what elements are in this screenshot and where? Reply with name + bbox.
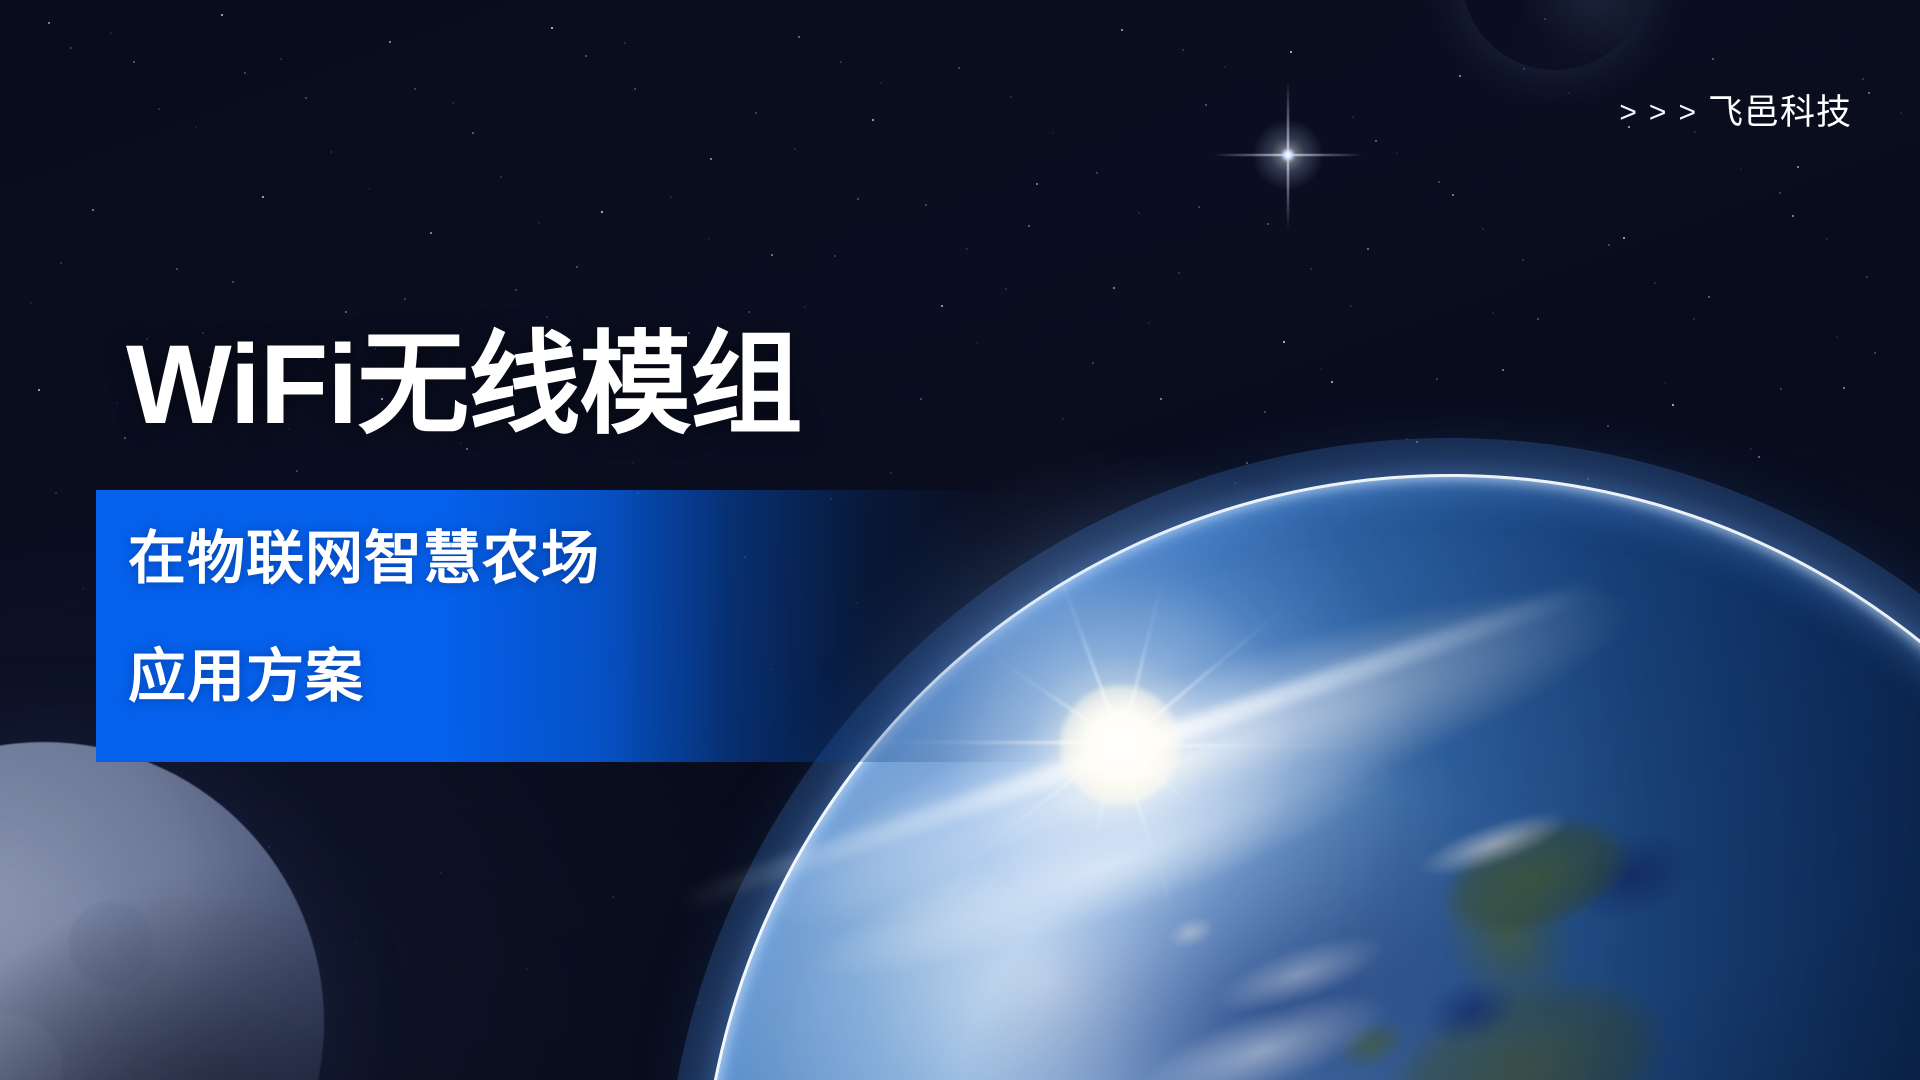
chevron-right-icon: > — [1649, 96, 1667, 129]
subtitle-line-2: 应用方案 — [128, 648, 364, 706]
subtitle-panel: 在物联网智慧农场 应用方案 — [96, 490, 1064, 762]
brand-lockup: >>> 飞邑科技 — [1619, 95, 1852, 130]
brand-name: 飞邑科技 — [1708, 95, 1852, 130]
chevron-right-icon: > — [1619, 96, 1637, 129]
page-title: WiFi无线模组 — [126, 322, 801, 447]
chevron-group-icon: >>> — [1619, 98, 1696, 128]
banner-stage: >>> 飞邑科技 WiFi无线模组 在物联网智慧农场 应用方案 — [0, 0, 1920, 1080]
chevron-right-icon: > — [1678, 96, 1696, 129]
subtitle-line-1: 在物联网智慧农场 — [128, 530, 600, 588]
